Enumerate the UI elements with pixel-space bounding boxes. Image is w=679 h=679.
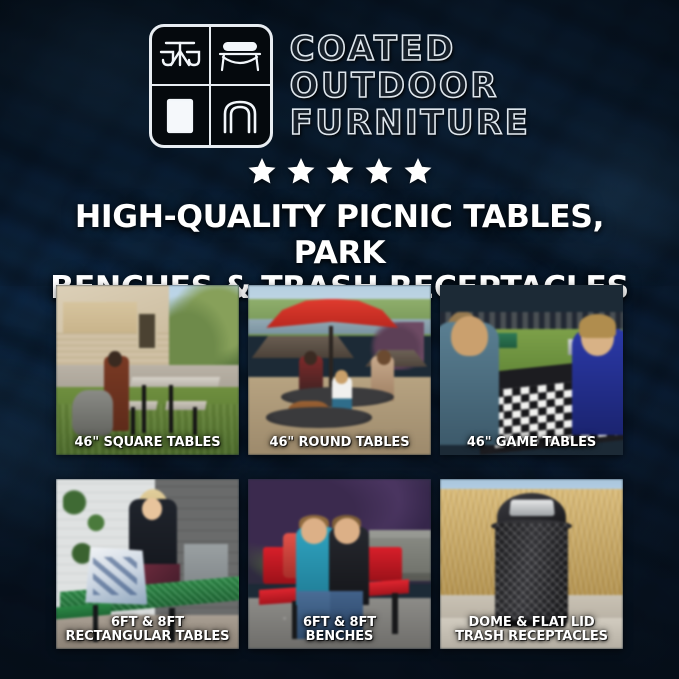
product-caption: 46" ROUND TABLES <box>252 436 427 450</box>
star-icon <box>403 156 433 186</box>
product-grid: 46" SQUARE TABLES 46" ROUND TABLE <box>56 285 623 649</box>
caption-line-2: TRASH RECEPTACLES <box>444 630 619 644</box>
arch-bike-rack-icon <box>211 86 270 145</box>
product-caption: 6FT & 8FT RECTANGULAR TABLES <box>60 616 235 644</box>
caption-line-2: RECTANGULAR TABLES <box>60 630 235 644</box>
caption-line-1: 46" GAME TABLES <box>467 435 596 450</box>
product-photo-game-tables <box>440 285 623 455</box>
product-photo-square-tables <box>56 285 239 455</box>
headline-line-1: HIGH-QUALITY PICNIC TABLES, PARK <box>75 199 604 271</box>
star-icon <box>364 156 394 186</box>
logo-word-2: OUTDOOR <box>290 68 499 104</box>
caption-line-1: 46" ROUND TABLES <box>270 435 410 450</box>
product-tile-trash-receptacles[interactable]: DOME & FLAT LID TRASH RECEPTACLES <box>440 479 623 649</box>
product-caption: DOME & FLAT LID TRASH RECEPTACLES <box>444 616 619 644</box>
product-caption: 6FT & 8FT BENCHES <box>252 616 427 644</box>
product-tile-rectangular-tables[interactable]: 6FT & 8FT RECTANGULAR TABLES <box>56 479 239 649</box>
logo-wordmark: COATED OUTDOOR FURNITURE <box>290 31 531 141</box>
logo-word-3: FURNITURE <box>290 105 531 141</box>
star-icon <box>286 156 316 186</box>
caption-line-1: 46" SQUARE TABLES <box>74 435 220 450</box>
park-bench-icon <box>211 27 270 86</box>
trash-receptacle-icon <box>152 86 211 145</box>
product-banner: COATED OUTDOOR FURNITURE HIGH-QUALITY PI… <box>0 0 679 679</box>
logo-mark <box>149 24 273 148</box>
star-rating <box>0 156 679 186</box>
logo-word-1: COATED <box>290 31 456 67</box>
product-tile-square-tables[interactable]: 46" SQUARE TABLES <box>56 285 239 455</box>
brand-logo: COATED OUTDOOR FURNITURE <box>0 24 679 148</box>
product-caption: 46" SQUARE TABLES <box>60 436 235 450</box>
picnic-table-icon <box>152 27 211 86</box>
product-photo-round-tables <box>248 285 431 455</box>
product-tile-game-tables[interactable]: 46" GAME TABLES <box>440 285 623 455</box>
star-icon <box>247 156 277 186</box>
product-tile-benches[interactable]: 6FT & 8FT BENCHES <box>248 479 431 649</box>
star-icon <box>325 156 355 186</box>
product-caption: 46" GAME TABLES <box>444 436 619 450</box>
product-tile-round-tables[interactable]: 46" ROUND TABLES <box>248 285 431 455</box>
caption-line-2: BENCHES <box>252 630 427 644</box>
